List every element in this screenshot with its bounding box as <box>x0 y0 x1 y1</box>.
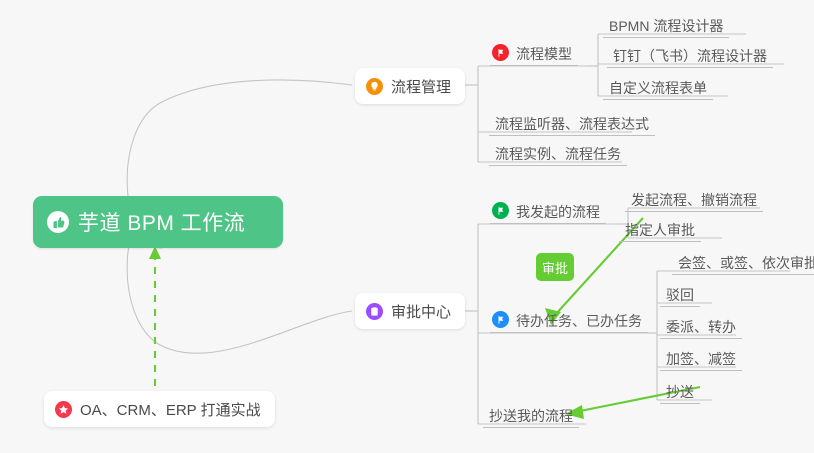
node-label: 指定人审批 <box>625 223 695 237</box>
node-dingding-designer[interactable]: 钉钉（飞书）流程设计器 <box>607 44 773 68</box>
node-liuchengmoxing[interactable]: 流程模型 <box>490 42 578 66</box>
node-label: 流程监听器、流程表达式 <box>495 117 649 131</box>
note-node[interactable]: OA、CRM、ERP 打通实战 <box>44 391 275 427</box>
node-label: 发起流程、撤销流程 <box>631 193 757 207</box>
node-label: 流程实例、流程任务 <box>495 147 621 161</box>
node-chaosong[interactable]: 抄送 <box>660 380 700 404</box>
node-daibanrenwu[interactable]: 待办任务、已办任务 <box>490 309 648 333</box>
node-label: 抄送 <box>666 385 694 399</box>
lightbulb-icon <box>366 78 383 95</box>
star-icon <box>55 401 72 418</box>
node-custom-form[interactable]: 自定义流程表单 <box>603 76 713 100</box>
node-label: 加签、减签 <box>666 352 736 366</box>
flag-icon <box>492 202 509 219</box>
mindmap-canvas: 芋道 BPM 工作流 OA、CRM、ERP 打通实战 流程管理 流程模型 流程监… <box>0 0 814 453</box>
flag-icon <box>492 44 509 61</box>
approval-tag[interactable]: 审批 <box>536 253 574 281</box>
note-label: OA、CRM、ERP 打通实战 <box>80 399 261 420</box>
node-huiqian-huoqian[interactable]: 会签、或签、依次审批 <box>672 251 814 275</box>
branch-shenpizhongxin[interactable]: 审批中心 <box>355 293 465 329</box>
node-wofaqidelc[interactable]: 我发起的流程 <box>490 200 606 224</box>
node-label: 抄送我的流程 <box>489 409 573 423</box>
node-bohui[interactable]: 驳回 <box>660 283 700 307</box>
node-label: 待办任务、已办任务 <box>516 314 642 328</box>
approval-tag-label: 审批 <box>542 258 568 277</box>
root-node[interactable]: 芋道 BPM 工作流 <box>33 196 283 248</box>
node-label: 会签、或签、依次审批 <box>678 256 814 270</box>
node-weipai-zhuanban[interactable]: 委派、转办 <box>660 315 742 339</box>
branch-label: 流程管理 <box>391 76 451 97</box>
node-jiaqian-jianqian[interactable]: 加签、减签 <box>660 347 742 371</box>
node-bpmn-designer[interactable]: BPMN 流程设计器 <box>603 14 729 38</box>
clipboard-icon <box>366 303 383 320</box>
flag-icon <box>492 311 509 328</box>
node-label: 流程模型 <box>516 47 572 61</box>
node-zhidingren-shenpi[interactable]: 指定人审批 <box>619 218 701 242</box>
node-faqi-chexiao[interactable]: 发起流程、撤销流程 <box>625 188 763 212</box>
node-label: 我发起的流程 <box>516 205 600 219</box>
branch-label: 审批中心 <box>391 301 451 322</box>
node-liuchengjiantingqi[interactable]: 流程监听器、流程表达式 <box>489 112 655 136</box>
root-label: 芋道 BPM 工作流 <box>78 207 245 237</box>
node-label: 驳回 <box>666 288 694 302</box>
node-liuchengshili[interactable]: 流程实例、流程任务 <box>489 142 627 166</box>
node-label: 委派、转办 <box>666 320 736 334</box>
thumbs-up-icon <box>47 211 69 233</box>
branch-liuchengguanli[interactable]: 流程管理 <box>355 68 465 104</box>
node-label: 钉钉（飞书）流程设计器 <box>613 49 767 63</box>
node-chaosongwodelc[interactable]: 抄送我的流程 <box>483 404 579 428</box>
node-label: BPMN 流程设计器 <box>609 19 723 33</box>
node-label: 自定义流程表单 <box>609 81 707 95</box>
